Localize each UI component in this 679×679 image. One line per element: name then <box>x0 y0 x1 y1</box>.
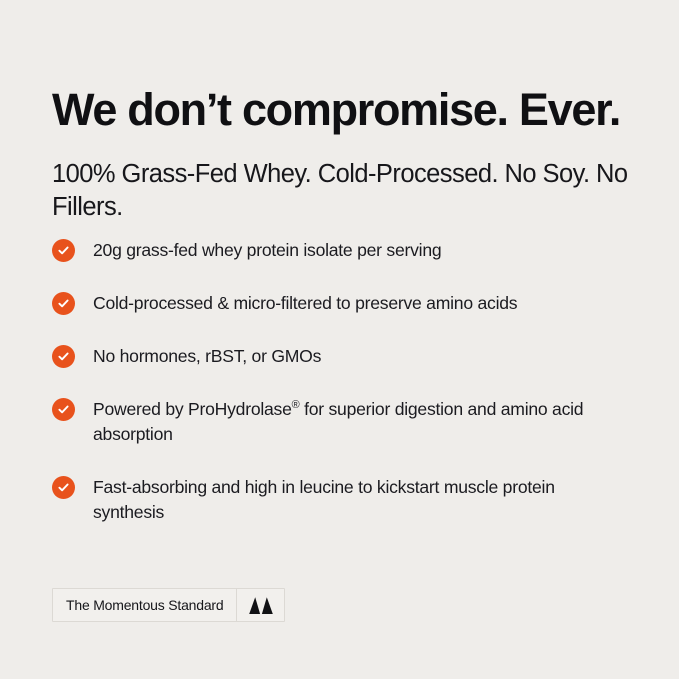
feature-label: No hormones, rBST, or GMOs <box>93 344 321 369</box>
feature-list: 20g grass-fed whey protein isolate per s… <box>52 238 632 553</box>
list-item: Fast-absorbing and high in leucine to ki… <box>52 475 632 525</box>
feature-label: Powered by ProHydrolase® for superior di… <box>93 397 593 447</box>
badge-label: The Momentous Standard <box>53 589 236 621</box>
check-circle-icon <box>52 476 75 499</box>
check-circle-icon <box>52 292 75 315</box>
check-circle-icon <box>52 239 75 262</box>
status-badge: The Momentous Standard <box>52 588 285 622</box>
feature-label: Fast-absorbing and high in leucine to ki… <box>93 475 593 525</box>
page-title: We don’t compromise. Ever. <box>52 82 620 138</box>
check-circle-icon <box>52 345 75 368</box>
promo-panel: We don’t compromise. Ever. 100% Grass-Fe… <box>0 0 679 679</box>
list-item: Powered by ProHydrolase® for superior di… <box>52 397 632 447</box>
feature-label: Cold-processed & micro-filtered to prese… <box>93 291 517 316</box>
list-item: 20g grass-fed whey protein isolate per s… <box>52 238 632 263</box>
page-subtitle: 100% Grass-Fed Whey. Cold-Processed. No … <box>52 158 632 224</box>
list-item: Cold-processed & micro-filtered to prese… <box>52 291 632 316</box>
momentous-m-logo-icon <box>236 589 284 621</box>
feature-label: 20g grass-fed whey protein isolate per s… <box>93 238 441 263</box>
list-item: No hormones, rBST, or GMOs <box>52 344 632 369</box>
check-circle-icon <box>52 398 75 421</box>
feature-label-prefix: Powered by ProHydrolase <box>93 399 292 419</box>
